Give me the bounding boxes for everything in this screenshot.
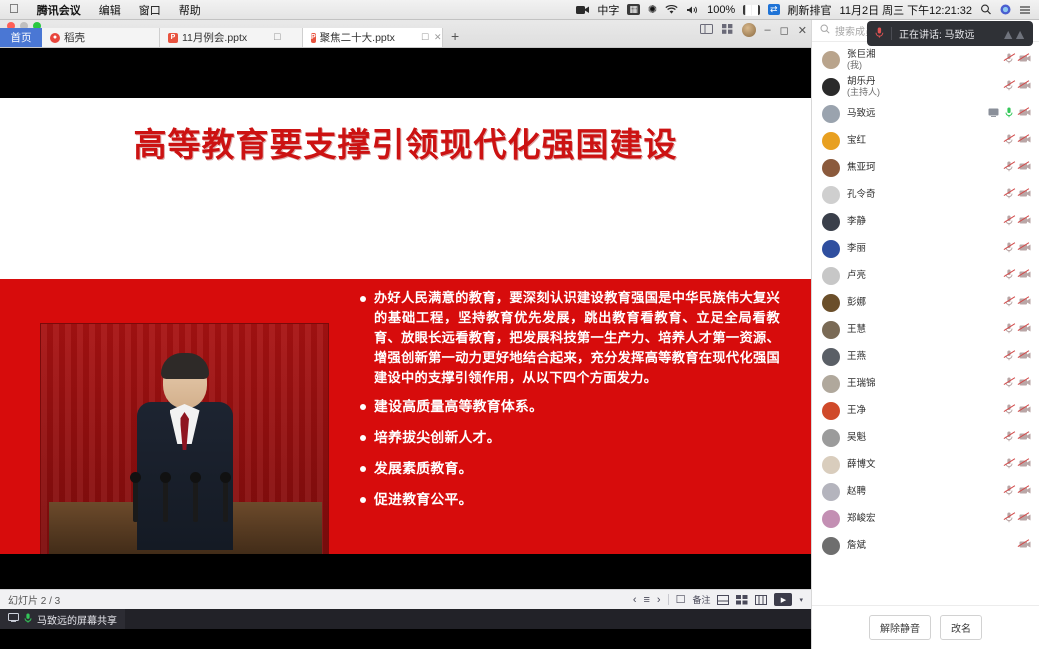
avatar bbox=[822, 186, 840, 204]
battery-percent: 100% bbox=[707, 4, 735, 16]
participant-row[interactable]: 彭娜 bbox=[812, 289, 1039, 316]
tab-doc-2-label: 聚焦二十大.pptx bbox=[320, 30, 395, 45]
microphone-muted-icon[interactable] bbox=[1005, 215, 1013, 229]
list-item: 发展素质教育。 bbox=[360, 459, 780, 479]
comment-icon[interactable]: ☐ bbox=[273, 32, 281, 43]
microphone-muted-icon[interactable] bbox=[1005, 512, 1013, 526]
unmute-button[interactable]: 解除静音 bbox=[869, 615, 931, 640]
microphone-muted-icon[interactable] bbox=[1005, 242, 1013, 256]
menu-item-help[interactable]: 帮助 bbox=[170, 2, 210, 18]
avatar bbox=[822, 375, 840, 393]
avatar bbox=[822, 510, 840, 528]
participant-row[interactable]: 李丽 bbox=[812, 235, 1039, 262]
speaking-toast-label: 正在讲话: 马致远 bbox=[899, 26, 975, 41]
avatar bbox=[822, 456, 840, 474]
microphone-icon bbox=[223, 478, 228, 522]
camera-off-icon[interactable] bbox=[1019, 81, 1031, 93]
camera-off-icon[interactable] bbox=[1019, 216, 1031, 228]
participant-controls bbox=[1005, 377, 1031, 391]
wps-status-bar: 幻灯片 2 / 3 ‹ ≡ › ☐ 备注 bbox=[0, 589, 811, 609]
microphone-muted-icon[interactable] bbox=[1005, 80, 1013, 94]
list-item: 促进教育公平。 bbox=[360, 490, 780, 510]
bullet-text: 培养拔尖创新人才。 bbox=[374, 428, 501, 448]
participant-row[interactable]: 宝红 bbox=[812, 127, 1039, 154]
view-reading-icon[interactable] bbox=[755, 595, 767, 605]
share-owner-label: 马致远的屏幕共享 bbox=[37, 612, 117, 627]
close-tab-icon[interactable]: ✕ bbox=[434, 32, 442, 43]
microphone-muted-icon[interactable] bbox=[1005, 458, 1013, 472]
participant-controls bbox=[1005, 458, 1031, 472]
wps-tab-bar: 首页 ● 稻壳 P 11月例会.pptx ☐ P 聚焦二十大.pptx bbox=[0, 20, 811, 48]
participant-row[interactable]: 詹斌 bbox=[812, 532, 1039, 559]
tab-dockerstore[interactable]: ● 稻壳 bbox=[42, 28, 160, 47]
comment-icon[interactable]: ☐ bbox=[421, 32, 429, 43]
participant-name: 马致远 bbox=[847, 108, 876, 119]
battery-icon[interactable]: ██ bbox=[743, 5, 760, 15]
bluetooth-icon[interactable]: ✺ bbox=[648, 3, 657, 16]
list-item: 办好人民满意的教育，要深刻认识建设教育强国是中华民族伟大复兴的基础工程，坚持教育… bbox=[360, 289, 780, 389]
camera-off-icon[interactable] bbox=[1019, 189, 1031, 201]
participant-name: 张巨湘(我) bbox=[847, 49, 876, 71]
participant-row[interactable]: 李静 bbox=[812, 208, 1039, 235]
participant-row[interactable]: 卢亮 bbox=[812, 262, 1039, 289]
speaker-figure bbox=[137, 356, 233, 546]
participant-name: 王净 bbox=[847, 405, 866, 416]
microphone-icon bbox=[193, 478, 198, 522]
list-item: 培养拔尖创新人才。 bbox=[360, 428, 780, 448]
participant-controls bbox=[1005, 485, 1031, 499]
control-center-icon[interactable] bbox=[1019, 5, 1031, 15]
participant-name: 王瑞锦 bbox=[847, 378, 876, 389]
microphone-icon bbox=[163, 478, 168, 522]
minimize-button[interactable]: – bbox=[765, 24, 771, 36]
screen-share-bar: 马致远的屏幕共享 bbox=[0, 609, 811, 629]
participant-controls bbox=[1019, 540, 1031, 552]
bullet-dot-icon bbox=[360, 435, 366, 441]
microphone-muted-icon[interactable] bbox=[1005, 350, 1013, 364]
apple-icon[interactable]:  bbox=[7, 2, 28, 17]
divider bbox=[668, 594, 669, 605]
menu-item-app[interactable]: 腾讯会议 bbox=[28, 2, 90, 18]
avatar bbox=[822, 429, 840, 447]
participant-row[interactable]: 孔令奇 bbox=[812, 181, 1039, 208]
camera-off-icon[interactable] bbox=[1019, 513, 1031, 525]
screen-root:  腾讯会议 编辑 窗口 帮助 中字 ▦ ✺ 100% ██ ⇄ 刷新排官 11… bbox=[0, 0, 1039, 649]
microphone-muted-icon[interactable] bbox=[1005, 53, 1013, 67]
bullet-dot-icon bbox=[360, 404, 366, 410]
screen-share-icon bbox=[8, 613, 19, 625]
participant-row[interactable]: 王慧 bbox=[812, 316, 1039, 343]
microphone-icon bbox=[24, 613, 32, 626]
camera-off-icon[interactable] bbox=[1019, 297, 1031, 309]
bullet-text: 办好人民满意的教育，要深刻认识建设教育强国是中华民族伟大复兴的基础工程，坚持教育… bbox=[374, 289, 780, 389]
grid-icon[interactable]: ▦ bbox=[627, 4, 640, 15]
bullet-text: 发展素质教育。 bbox=[374, 459, 473, 479]
participant-name: 王燕 bbox=[847, 351, 866, 362]
speaker-photo bbox=[40, 323, 329, 554]
participant-name: 薛博文 bbox=[847, 459, 876, 470]
participant-controls bbox=[1005, 188, 1031, 202]
speaker-hair bbox=[161, 353, 209, 379]
participant-controls bbox=[1005, 296, 1031, 310]
avatar bbox=[822, 132, 840, 150]
microphone-muted-icon[interactable] bbox=[1005, 377, 1013, 391]
camera-off-icon[interactable] bbox=[1019, 405, 1031, 417]
participant-row[interactable]: 郑峻宏 bbox=[812, 505, 1039, 532]
tab-doc-1-label: 11月例会.pptx bbox=[182, 30, 247, 45]
avatar bbox=[822, 402, 840, 420]
participant-controls bbox=[1005, 269, 1031, 283]
menu-item-edit[interactable]: 编辑 bbox=[90, 2, 130, 18]
avatar bbox=[822, 51, 840, 69]
microphone-muted-icon[interactable] bbox=[1005, 134, 1013, 148]
camera-off-icon[interactable] bbox=[1019, 54, 1031, 66]
microphone-muted-icon[interactable] bbox=[1005, 404, 1013, 418]
participant-name: 詹斌 bbox=[847, 540, 866, 551]
participant-role: (主持人) bbox=[847, 87, 880, 98]
camera-off-icon[interactable] bbox=[1019, 108, 1031, 120]
microphone-muted-icon[interactable] bbox=[1005, 323, 1013, 337]
screen-share-icon[interactable] bbox=[988, 108, 999, 120]
avatar bbox=[822, 348, 840, 366]
tab-home-label: 首页 bbox=[11, 30, 32, 45]
avatar bbox=[822, 240, 840, 258]
participant-row[interactable]: 张巨湘(我) bbox=[812, 46, 1039, 73]
participant-row[interactable]: 王瑞锦 bbox=[812, 370, 1039, 397]
participant-role: (我) bbox=[847, 60, 876, 71]
avatar bbox=[822, 483, 840, 501]
tab-home[interactable]: 首页 bbox=[0, 28, 42, 47]
slide-body: 办好人民满意的教育，要深刻认识建设教育强国是中华民族伟大复兴的基础工程，坚持教育… bbox=[0, 279, 811, 554]
menu-bar-clock[interactable]: 11月2日 周三 下午12:21:32 bbox=[840, 2, 972, 18]
screen-record-icon[interactable] bbox=[576, 5, 589, 15]
slide-menu-button[interactable]: ≡ bbox=[644, 594, 650, 606]
chevron-down-icon[interactable]: ▾ bbox=[799, 596, 803, 604]
microphone-muted-icon[interactable] bbox=[1005, 296, 1013, 310]
participant-name: 焦亚珂 bbox=[847, 162, 876, 173]
list-item: 建设高质量高等教育体系。 bbox=[360, 397, 780, 417]
wifi-icon[interactable] bbox=[665, 5, 678, 15]
grid-view-icon[interactable] bbox=[722, 24, 733, 37]
pptx-icon: P bbox=[311, 33, 316, 43]
wps-presentation-window: 首页 ● 稻壳 P 11月例会.pptx ☐ P 聚焦二十大.pptx bbox=[0, 20, 811, 649]
participant-name: 宝红 bbox=[847, 135, 866, 146]
participants-panel: 搜索成员 正在讲话: 马致远 ▲▲ 张巨湘(我)胡乐丹(主持人)马致远宝红焦亚珂… bbox=[811, 20, 1039, 649]
camera-off-icon[interactable] bbox=[1019, 270, 1031, 282]
slide-canvas[interactable]: 高等教育要支撑引领现代化强国建设 bbox=[0, 98, 811, 554]
bullet-dot-icon bbox=[360, 296, 366, 302]
participant-controls bbox=[1005, 512, 1031, 526]
tab-doc-1-trailing: ☐ bbox=[273, 32, 281, 43]
camera-off-icon[interactable] bbox=[1019, 378, 1031, 390]
participant-row[interactable]: 焦亚珂 bbox=[812, 154, 1039, 181]
camera-off-icon[interactable] bbox=[1019, 351, 1031, 363]
slide-stage[interactable]: 高等教育要支撑引领现代化强国建设 bbox=[0, 48, 811, 629]
camera-off-icon[interactable] bbox=[1019, 243, 1031, 255]
participant-name: 卢亮 bbox=[847, 270, 866, 281]
participant-controls bbox=[1005, 134, 1031, 148]
participant-row[interactable]: 薛博文 bbox=[812, 451, 1039, 478]
bullet-text: 促进教育公平。 bbox=[374, 490, 473, 510]
note-label[interactable]: 备注 bbox=[692, 593, 710, 606]
participant-controls bbox=[1005, 323, 1031, 337]
participant-row[interactable]: 赵聘 bbox=[812, 478, 1039, 505]
participant-row[interactable]: 王燕 bbox=[812, 343, 1039, 370]
participant-controls bbox=[1005, 404, 1031, 418]
avatar bbox=[822, 267, 840, 285]
view-normal-icon[interactable] bbox=[717, 595, 729, 605]
participant-controls bbox=[1005, 53, 1031, 67]
prev-slide-button[interactable]: ‹ bbox=[633, 594, 637, 606]
microphone-muted-icon[interactable] bbox=[1005, 188, 1013, 202]
camera-off-icon[interactable] bbox=[1019, 540, 1031, 552]
camera-off-icon[interactable] bbox=[1019, 459, 1031, 471]
camera-off-icon[interactable] bbox=[1019, 432, 1031, 444]
camera-off-icon[interactable] bbox=[1019, 162, 1031, 174]
avatar[interactable] bbox=[742, 23, 756, 37]
participant-controls bbox=[1005, 215, 1031, 229]
avatar bbox=[822, 213, 840, 231]
rename-button[interactable]: 改名 bbox=[940, 615, 982, 640]
avatar bbox=[822, 537, 840, 555]
participant-controls bbox=[1005, 161, 1031, 175]
divider bbox=[891, 27, 892, 40]
participant-row[interactable]: 胡乐丹(主持人) bbox=[812, 73, 1039, 100]
microphone-on-icon[interactable] bbox=[1005, 107, 1013, 121]
camera-off-icon[interactable] bbox=[1019, 135, 1031, 147]
play-slideshow-button[interactable]: ▶ bbox=[774, 593, 792, 606]
participant-controls bbox=[1005, 431, 1031, 445]
participant-name: 胡乐丹(主持人) bbox=[847, 76, 880, 98]
docker-icon: ● bbox=[50, 33, 60, 43]
participant-name: 赵聘 bbox=[847, 486, 866, 497]
microphone-muted-icon[interactable] bbox=[1005, 485, 1013, 499]
note-icon[interactable]: ☐ bbox=[676, 593, 686, 606]
volume-icon[interactable] bbox=[686, 5, 699, 15]
share-status-chip[interactable]: 马致远的屏幕共享 bbox=[0, 609, 125, 629]
menu-bar-apps:  腾讯会议 编辑 窗口 帮助 bbox=[0, 2, 210, 18]
slide-counter: 幻灯片 2 / 3 bbox=[0, 592, 60, 607]
participant-name: 孔令奇 bbox=[847, 189, 876, 200]
spotlight-search-icon[interactable] bbox=[980, 4, 992, 15]
search-icon bbox=[820, 24, 830, 37]
participant-list[interactable]: 张巨湘(我)胡乐丹(主持人)马致远宝红焦亚珂孔令奇李静李丽卢亮彭娜王慧王燕王瑞锦… bbox=[812, 42, 1039, 605]
participant-row[interactable]: 吴魁 bbox=[812, 424, 1039, 451]
view-sorter-icon[interactable] bbox=[736, 595, 748, 605]
waveform-icon: ▲▲ bbox=[1001, 26, 1025, 42]
camera-off-icon[interactable] bbox=[1019, 324, 1031, 336]
participant-row[interactable]: 王净 bbox=[812, 397, 1039, 424]
participant-name: 王慧 bbox=[847, 324, 866, 335]
input-method-indicator[interactable]: 中字 bbox=[597, 2, 619, 18]
tab-list: 首页 ● 稻壳 P 11月例会.pptx ☐ P 聚焦二十大.pptx bbox=[0, 19, 467, 47]
next-slide-button[interactable]: › bbox=[657, 594, 661, 606]
avatar bbox=[822, 78, 840, 96]
pptx-icon: P bbox=[168, 33, 178, 43]
participant-row[interactable]: 马致远 bbox=[812, 100, 1039, 127]
tab-doc-2[interactable]: P 聚焦二十大.pptx ☐ ✕ bbox=[303, 28, 443, 47]
participant-name: 郑峻宏 bbox=[847, 513, 876, 524]
slide-bullet-list: 办好人民满意的教育，要深刻认识建设教育强国是中华民族伟大复兴的基础工程，坚持教育… bbox=[360, 289, 780, 521]
participant-name: 彭娜 bbox=[847, 297, 866, 308]
avatar bbox=[822, 105, 840, 123]
panel-footer: 解除静音 改名 bbox=[812, 605, 1039, 649]
participant-controls bbox=[1005, 350, 1031, 364]
page-view-icon[interactable] bbox=[700, 24, 713, 37]
avatar bbox=[822, 321, 840, 339]
menu-item-window[interactable]: 窗口 bbox=[130, 2, 170, 18]
bullet-dot-icon bbox=[360, 497, 366, 503]
participant-name: 李静 bbox=[847, 216, 866, 227]
participant-controls bbox=[988, 107, 1031, 121]
bullet-text: 建设高质量高等教育体系。 bbox=[374, 397, 543, 417]
tab-doc-2-trailing: ☐ ✕ bbox=[421, 32, 442, 43]
sync-icon[interactable]: ⇄ bbox=[768, 4, 780, 15]
tab-dockerstore-label: 稻壳 bbox=[64, 30, 85, 45]
maximize-button[interactable]: ◻ bbox=[780, 24, 789, 37]
speaking-icon bbox=[875, 27, 884, 41]
avatar bbox=[822, 294, 840, 312]
new-tab-button[interactable]: + bbox=[443, 27, 467, 47]
participant-controls bbox=[1005, 80, 1031, 94]
camera-off-icon[interactable] bbox=[1019, 486, 1031, 498]
tab-doc-1[interactable]: P 11月例会.pptx ☐ bbox=[160, 28, 303, 47]
microphone-muted-icon[interactable] bbox=[1005, 269, 1013, 283]
avatar bbox=[822, 159, 840, 177]
speaking-toast: 正在讲话: 马致远 ▲▲ bbox=[867, 21, 1033, 46]
slide-title: 高等教育要支撑引领现代化强国建设 bbox=[0, 118, 811, 166]
wps-status-tools: ‹ ≡ › ☐ 备注 ▶ ▾ bbox=[633, 593, 811, 606]
participant-name: 吴魁 bbox=[847, 432, 866, 443]
participant-name: 李丽 bbox=[847, 243, 866, 254]
bullet-dot-icon bbox=[360, 466, 366, 472]
sync-label[interactable]: 刷新排官 bbox=[788, 2, 832, 18]
microphone-icon bbox=[133, 478, 138, 522]
menu-bar-status-items: 中字 ▦ ✺ 100% ██ ⇄ 刷新排官 11月2日 周三 下午12:21:3… bbox=[576, 2, 1039, 18]
microphone-muted-icon[interactable] bbox=[1005, 161, 1013, 175]
wps-window-toolbar: – ◻ ✕ bbox=[700, 23, 807, 37]
participant-controls bbox=[1005, 242, 1031, 256]
macos-menu-bar:  腾讯会议 编辑 窗口 帮助 中字 ▦ ✺ 100% ██ ⇄ 刷新排官 11… bbox=[0, 0, 1039, 20]
siri-icon[interactable] bbox=[1000, 4, 1011, 15]
close-button[interactable]: ✕ bbox=[798, 24, 807, 37]
microphone-muted-icon[interactable] bbox=[1005, 431, 1013, 445]
